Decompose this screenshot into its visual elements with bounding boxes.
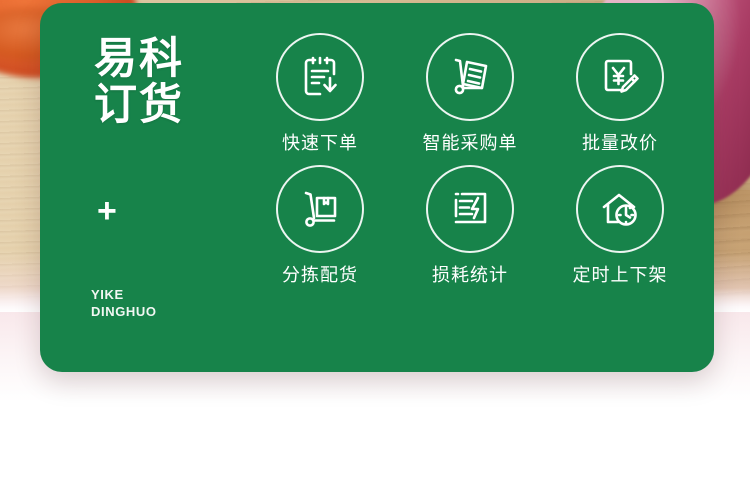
feature-card: 易科 订货 + YIKE DINGHUO bbox=[40, 3, 714, 372]
feature-icon-circle bbox=[426, 33, 514, 121]
plus-icon: + bbox=[97, 195, 129, 227]
brand-title: 易科 订货 bbox=[94, 36, 264, 128]
feature-item-smart-purchase-list[interactable]: 智能采购单 bbox=[395, 33, 545, 165]
house-clock-icon bbox=[595, 184, 645, 234]
feature-label: 定时上下架 bbox=[573, 264, 668, 286]
brand-subtitle-pinyin: YIKE DINGHUO bbox=[91, 286, 157, 320]
hand-truck-box-icon bbox=[295, 184, 345, 234]
feature-label: 智能采购单 bbox=[423, 132, 518, 154]
document-cart-icon bbox=[445, 52, 495, 102]
feature-icon-circle bbox=[576, 33, 664, 121]
feature-item-sorting-delivery[interactable]: 分拣配货 bbox=[245, 165, 395, 297]
feature-label: 快速下单 bbox=[282, 132, 358, 154]
clipboard-download-icon bbox=[295, 52, 345, 102]
feature-item-quick-order[interactable]: 快速下单 bbox=[245, 33, 395, 165]
feature-label: 分拣配货 bbox=[282, 264, 358, 286]
feature-item-scheduled-listing[interactable]: 定时上下架 bbox=[545, 165, 695, 297]
feature-icon-circle bbox=[276, 33, 364, 121]
feature-icon-circle bbox=[426, 165, 514, 253]
yuan-document-pencil-icon bbox=[595, 52, 645, 102]
promo-banner: 易科 订货 + YIKE DINGHUO bbox=[0, 0, 750, 496]
feature-label: 损耗统计 bbox=[432, 264, 508, 286]
document-lightning-icon bbox=[445, 184, 495, 234]
feature-item-loss-statistics[interactable]: 损耗统计 bbox=[395, 165, 545, 297]
feature-label: 批量改价 bbox=[582, 132, 658, 154]
brand-block: 易科 订货 bbox=[94, 36, 264, 128]
feature-item-batch-price-change[interactable]: 批量改价 bbox=[545, 33, 695, 165]
feature-icon-circle bbox=[276, 165, 364, 253]
feature-icon-circle bbox=[576, 165, 664, 253]
feature-grid: 快速下单 bbox=[245, 33, 695, 297]
